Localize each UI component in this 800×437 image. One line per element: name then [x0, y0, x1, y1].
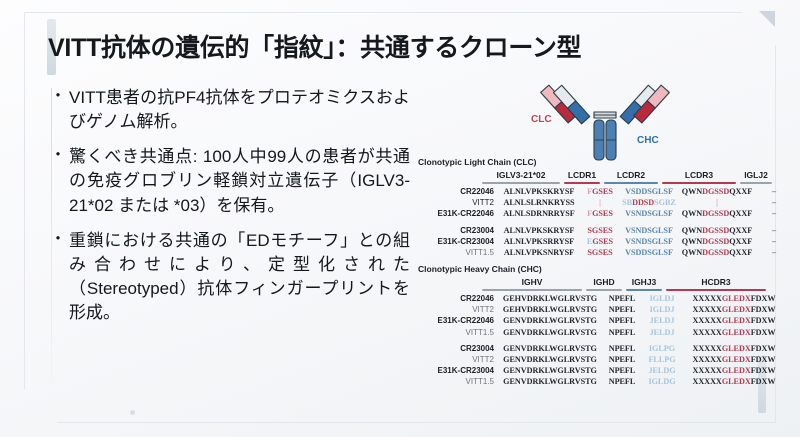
row-label: VITT1.5 — [418, 248, 500, 257]
sequence-cell: FGSES — [582, 187, 618, 196]
sequence-cell: | — [582, 198, 618, 207]
bullet-marker: ・ — [50, 86, 69, 134]
table-row: CR23004ALNLVPKSKRYSFSGSESVSNDSGLSFQWNDGS… — [418, 226, 790, 237]
bullet-text: VITT患者の抗PF4抗体をプロテオミクスおよびゲノム解析。 — [69, 86, 410, 134]
sequence-cell: GENVDRKLWGLRVSTG — [500, 377, 600, 386]
sequence-span: FDXW — [751, 355, 776, 364]
column-header: LCDR2 — [604, 170, 658, 180]
sequence-cell: IGLDJ — [644, 305, 680, 314]
sequence-cell: XXXXXGLEDXFDXW — [684, 366, 784, 375]
sequence-span: GLEDX — [722, 305, 751, 314]
sequence-span: DGSSD — [702, 209, 729, 218]
sequence-cell: XXXXXGLEDXFDXW — [684, 294, 784, 303]
row-label: E31K-CR22046 — [418, 209, 500, 218]
sequence-cell: GENVDRKLWGLRVSTG — [500, 366, 600, 375]
sequence-span: ALNLSLRNKRYSS — [504, 198, 575, 207]
sequence-span: QWN — [682, 226, 702, 235]
sequence-cell: NPEFL — [604, 328, 640, 337]
sequence-cell: NPEFL — [604, 366, 640, 375]
sequence-cell: GEHVDRKLWGLRVSTG — [500, 305, 600, 314]
sequence-span: XXXXX — [692, 294, 721, 303]
sequence-span: VSDDSGLSF — [625, 248, 673, 257]
column-underline — [604, 182, 658, 184]
sequence-cell: NPEFL — [604, 355, 640, 364]
sequence-span: GLEDX — [722, 366, 751, 375]
sequence-span: ALNLVPKSRRYSF — [504, 237, 574, 246]
sequence-span: DGSSD — [702, 187, 729, 196]
sequence-span: QWN — [682, 248, 702, 257]
sequence-span: NPEFL — [609, 344, 636, 353]
sequence-span: XXXXX — [692, 316, 721, 325]
column-underline — [740, 182, 772, 184]
bullet-item: ・驚くべき共通点: 100人中99人の患者が共通の免疫グロブリン軽鎖対立遺伝子（… — [50, 145, 410, 217]
chc-caption: Clonotypic Heavy Chain (CHC) — [418, 264, 784, 274]
sequence-span: GLEDX — [722, 344, 751, 353]
clc-caption: Clonotypic Light Chain (CLC) — [418, 157, 790, 167]
sequence-span: GENVDRKLWGLRVSTG — [503, 366, 597, 375]
sequence-span: SGBZ — [654, 198, 676, 207]
sequence-cell: NPEFL — [604, 316, 640, 325]
row-label: CR23004 — [418, 344, 500, 353]
sequence-span: FDXW — [751, 294, 776, 303]
sequence-span: ALNLVPKSNRYSF — [504, 248, 574, 257]
sequence-span: SB — [622, 198, 632, 207]
sequence-cell: NPEFL — [604, 305, 640, 314]
sequence-span: ALNLVPKSKRYSF — [504, 226, 575, 235]
sequence-span: GENVDRKLWGLRVSTG — [503, 377, 597, 386]
chc-column-headers: IGHVIGHDIGHJ3HCDR3 — [418, 277, 784, 294]
sequence-cell: XXXXXGLEDXFDXW — [684, 355, 784, 364]
bullet-marker: ・ — [50, 229, 69, 326]
sequence-cell: – — [758, 187, 790, 196]
sequence-cell: XXXXXGLEDXFDXW — [684, 377, 784, 386]
row-label: E31K-CR22046 — [418, 316, 500, 325]
sequence-span: NPEFL — [609, 366, 636, 375]
sequence-span: – — [772, 226, 776, 235]
sequence-span: VSNDSGLSF — [625, 209, 673, 218]
table-row: VITT2GENVDRKLWGLRVSTGNPEFLFLLPGXXXXXGLED… — [418, 355, 784, 366]
clonotypic-heavy-chain-panel: Clonotypic Heavy Chain (CHC) IGHVIGHDIGH… — [418, 264, 784, 389]
row-label: E31K-CR23004 — [418, 366, 500, 375]
sequence-span: QXXF — [729, 209, 752, 218]
sequence-cell: JELDJ — [644, 328, 680, 337]
sequence-span: GENVDRKLWGLRVSTG — [503, 344, 597, 353]
sequence-span: QXXF — [729, 248, 752, 257]
sequence-span: FDXW — [751, 344, 776, 353]
sequence-cell: ALNLVPKSRRYSF — [500, 237, 578, 246]
sequence-cell: VSNDSGLSF — [622, 209, 676, 218]
sequence-span: XXXXX — [692, 328, 721, 337]
row-label: E31K-CR23004 — [418, 237, 500, 246]
sequence-cell: IGLDG — [644, 377, 680, 386]
sequence-span: GSES — [592, 237, 613, 246]
sequence-cell: – — [758, 209, 790, 218]
sequence-span: GENVDRKLWGLRVSTG — [503, 355, 597, 364]
column-underline — [564, 182, 600, 184]
sequence-cell: QWNDGSSDQXXF — [680, 187, 754, 196]
sequence-cell: ALNLVPKSNRYSF — [500, 248, 578, 257]
column-header: IGHJ3 — [626, 277, 662, 287]
sequence-span: JELDG — [648, 366, 675, 375]
sequence-span: VSNDSGLSF — [625, 237, 673, 246]
sequence-span: XXXXX — [692, 305, 721, 314]
sequence-span: – — [772, 198, 776, 207]
sequence-span: XXXXX — [692, 355, 721, 364]
sequence-span: GENVDRKLWGLRVSTG — [503, 328, 597, 337]
sequence-span: GSES — [592, 209, 613, 218]
sequence-cell: ALNLVPKSKRYSF — [500, 187, 578, 196]
sequence-cell: NPEFL — [604, 344, 640, 353]
sequence-cell: EGSES — [582, 237, 618, 246]
sequence-cell: SGSES — [582, 248, 618, 257]
sequence-cell: GENVDRKLWGLRVSTG — [500, 316, 600, 325]
sequence-span: XXXXX — [692, 366, 721, 375]
sequence-cell: NPEFL — [604, 294, 640, 303]
sequence-span: IGLDG — [648, 377, 675, 386]
sequence-span: | — [716, 198, 718, 207]
antibody-diagram: CLC CHC — [520, 62, 690, 167]
sequence-span: GEHVDRKLWGLRVSTG — [503, 294, 597, 303]
column-underline — [586, 289, 622, 291]
sequence-cell: FLLPG — [644, 355, 680, 364]
sequence-span: IGLDJ — [650, 305, 675, 314]
sequence-span: SGSES — [587, 248, 612, 257]
sequence-cell: XXXXXGLEDXFDXW — [684, 316, 784, 325]
sequence-cell: QWNDGSSDQXXF — [680, 226, 754, 235]
row-label: VITT1.5 — [418, 377, 500, 386]
sequence-cell: | — [680, 198, 754, 207]
column-header: IGHV — [482, 277, 582, 287]
sequence-span: GSES — [592, 187, 613, 196]
sequence-cell: VSDDSGLSF — [622, 187, 676, 196]
sequence-span: – — [772, 187, 776, 196]
column-underline — [662, 182, 736, 184]
row-label: CR23004 — [418, 226, 500, 235]
sequence-span: GEHVDRKLWGLRVSTG — [503, 305, 597, 314]
bullet-list: ・VITT患者の抗PF4抗体をプロテオミクスおよびゲノム解析。・驚くべき共通点:… — [50, 86, 410, 336]
sequence-cell: IGLPG — [644, 344, 680, 353]
sequence-span: QXXF — [729, 226, 752, 235]
sequence-span: JELDJ — [650, 316, 675, 325]
table-row: CR23004GENVDRKLWGLRVSTGNPEFLIGLPGXXXXXGL… — [418, 344, 784, 355]
sequence-span: | — [599, 198, 601, 207]
sequence-cell: GENVDRKLWGLRVSTG — [500, 355, 600, 364]
column-header: IGLJ2 — [740, 170, 772, 180]
sequence-cell: – — [758, 226, 790, 235]
sequence-span: JELDJ — [650, 328, 675, 337]
row-label: VITT1.5 — [418, 328, 500, 337]
sequence-cell: FGSES — [582, 209, 618, 218]
bullet-item: ・VITT患者の抗PF4抗体をプロテオミクスおよびゲノム解析。 — [50, 86, 410, 134]
sequence-span: QXXF — [729, 187, 752, 196]
column-header: LCDR3 — [662, 170, 736, 180]
sequence-span: NPEFL — [609, 377, 636, 386]
sequence-span: DDSD — [632, 198, 654, 207]
sequence-span: GLEDX — [722, 316, 751, 325]
decorative-dot — [130, 410, 135, 415]
sequence-cell: ALNLVPKSKRYSF — [500, 226, 578, 235]
antibody-label-clc: CLC — [531, 114, 552, 125]
column-header: IGLV3-21*02 — [482, 170, 560, 180]
sequence-span: – — [772, 248, 776, 257]
chc-rows: CR22046GEHVDRKLWGLRVSTGNPEFLIGLDJXXXXXGL… — [418, 294, 784, 389]
bullet-text: 重鎖における共通の「EDモチーフ」との組み合わせにより、定型化された（Stere… — [69, 229, 410, 326]
sequence-cell: – — [758, 198, 790, 207]
antibody-label-chc: CHC — [637, 135, 659, 146]
column-header: IGHD — [586, 277, 622, 287]
sequence-span: FDXW — [751, 316, 776, 325]
sequence-cell: QWNDGSSDQXXF — [680, 248, 754, 257]
table-row: E31K-CR22046GENVDRKLWGLRVSTGNPEFLJELDJXX… — [418, 316, 784, 327]
sequence-cell: SGSES — [582, 226, 618, 235]
sequence-span: DGSSD — [702, 237, 729, 246]
sequence-span: ALNLVPKSKRYSF — [504, 187, 575, 196]
clonotypic-light-chain-panel: Clonotypic Light Chain (CLC) IGLV3-21*02… — [418, 157, 790, 259]
column-underline — [482, 182, 560, 184]
sequence-cell: XXXXXGLEDXFDXW — [684, 305, 784, 314]
sequence-cell: JELDJ — [644, 316, 680, 325]
bullet-item: ・重鎖における共通の「EDモチーフ」との組み合わせにより、定型化された（Ster… — [50, 229, 410, 326]
table-row: E31K-CR23004ALNLVPKSRRYSFEGSESVSNDSGLSFQ… — [418, 237, 790, 248]
sequence-cell: – — [758, 237, 790, 246]
sequence-cell: XXXXXGLEDXFDXW — [684, 328, 784, 337]
sequence-span: NPEFL — [609, 305, 636, 314]
sequence-cell: QWNDGSSDQXXF — [680, 209, 754, 218]
sequence-span: FDXW — [751, 377, 776, 386]
page-title: VITT抗体の遺伝的「指紋」：共通するクローン型 — [48, 28, 581, 64]
sequence-span: QWN — [682, 187, 702, 196]
bullet-marker: ・ — [50, 145, 69, 217]
sequence-span: VSNDSGLSF — [625, 226, 673, 235]
sequence-cell: JELDG — [644, 366, 680, 375]
sequence-cell: GEHVDRKLWGLRVSTG — [500, 294, 600, 303]
sequence-span: NPEFL — [609, 316, 636, 325]
column-underline — [666, 289, 766, 291]
sequence-span: DGSSD — [702, 226, 729, 235]
column-underline — [482, 289, 582, 291]
sequence-span: QWN — [682, 237, 702, 246]
sequence-span: FDXW — [751, 328, 776, 337]
sequence-span: GLEDX — [722, 328, 751, 337]
sequence-span: XXXXX — [692, 377, 721, 386]
sequence-cell: GENVDRKLWGLRVSTG — [500, 328, 600, 337]
sequence-span: GLEDX — [722, 355, 751, 364]
sequence-span: SGSES — [587, 226, 612, 235]
clc-column-headers: IGLV3-21*02LCDR1LCDR2LCDR3IGLJ2 — [418, 170, 790, 187]
sequence-cell: – — [758, 248, 790, 257]
row-label: VITT2 — [418, 305, 500, 314]
sequence-span: QXXF — [729, 237, 752, 246]
table-row: VITT1.5ALNLVPKSNRYSFSGSESVSDDSGLSFQWNDGS… — [418, 248, 790, 259]
sequence-span: – — [772, 237, 776, 246]
table-row: E31K-CR22046ALNLSDRNRRYSFFGSESVSNDSGLSFQ… — [418, 209, 790, 220]
table-row: CR22046ALNLVPKSKRYSFFGSESVSDDSGLSFQWNDGS… — [418, 187, 790, 198]
row-label: CR22046 — [418, 187, 500, 196]
sequence-cell: VSDDSGLSF — [622, 248, 676, 257]
sequence-span: GLEDX — [722, 294, 751, 303]
corner-accent-triangle — [759, 11, 775, 27]
sequence-cell: ALNLSDRNRRYSF — [500, 209, 578, 218]
sequence-span: IGLPG — [649, 344, 675, 353]
slide: VITT抗体の遺伝的「指紋」：共通するクローン型 ・VITT患者の抗PF4抗体を… — [0, 0, 800, 437]
sequence-cell: VSNDSGLSF — [622, 237, 676, 246]
sequence-span: FDXW — [751, 366, 776, 375]
sequence-cell: QWNDGSSDQXXF — [680, 237, 754, 246]
sequence-span: XXXXX — [692, 344, 721, 353]
sequence-cell: XXXXXGLEDXFDXW — [684, 344, 784, 353]
column-header: LCDR1 — [564, 170, 600, 180]
sequence-span: FLLPG — [648, 355, 675, 364]
sequence-span: GLEDX — [722, 377, 751, 386]
sequence-span: NPEFL — [609, 294, 636, 303]
sequence-span: DGSSD — [702, 248, 729, 257]
sequence-cell: VSNDSGLSF — [622, 226, 676, 235]
table-row: VITT2ALNLSLRNKRYSS|SBDDSDSGBZ|– — [418, 198, 790, 209]
sequence-span: NPEFL — [609, 328, 636, 337]
sequence-span: ALNLSDRNRRYSF — [503, 209, 574, 218]
sequence-span: NPEFL — [609, 355, 636, 364]
sequence-cell: NPEFL — [604, 377, 640, 386]
row-label: CR22046 — [418, 294, 500, 303]
row-label: VITT2 — [418, 355, 500, 364]
column-header: HCDR3 — [666, 277, 766, 287]
row-label: VITT2 — [418, 198, 500, 207]
sequence-cell: GENVDRKLWGLRVSTG — [500, 344, 600, 353]
sequence-cell: SBDDSDSGBZ — [622, 198, 676, 207]
sequence-span: FDXW — [751, 305, 776, 314]
clc-rows: CR22046ALNLVPKSKRYSFFGSESVSDDSGLSFQWNDGS… — [418, 187, 790, 259]
sequence-cell: IGLDJ — [644, 294, 680, 303]
sequence-cell: ALNLSLRNKRYSS — [500, 198, 578, 207]
table-row: VITT1.5GENVDRKLWGLRVSTGNPEFLJELDJXXXXXGL… — [418, 328, 784, 339]
bullet-text: 驚くべき共通点: 100人中99人の患者が共通の免疫グロブリン軽鎖対立遺伝子（I… — [69, 145, 410, 217]
table-row: VITT2GEHVDRKLWGLRVSTGNPEFLIGLDJXXXXXGLED… — [418, 305, 784, 316]
table-row: CR22046GEHVDRKLWGLRVSTGNPEFLIGLDJXXXXXGL… — [418, 294, 784, 305]
sequence-span: IGLDJ — [650, 294, 675, 303]
sequence-span: QWN — [682, 209, 702, 218]
table-row: VITT1.5GENVDRKLWGLRVSTGNPEFLIGLDGXXXXXGL… — [418, 377, 784, 388]
table-row: E31K-CR23004GENVDRKLWGLRVSTGNPEFLJELDGXX… — [418, 366, 784, 377]
sequence-span: VSDDSGLSF — [625, 187, 673, 196]
column-underline — [626, 289, 662, 291]
sequence-span: – — [772, 209, 776, 218]
sequence-span: GENVDRKLWGLRVSTG — [503, 316, 597, 325]
